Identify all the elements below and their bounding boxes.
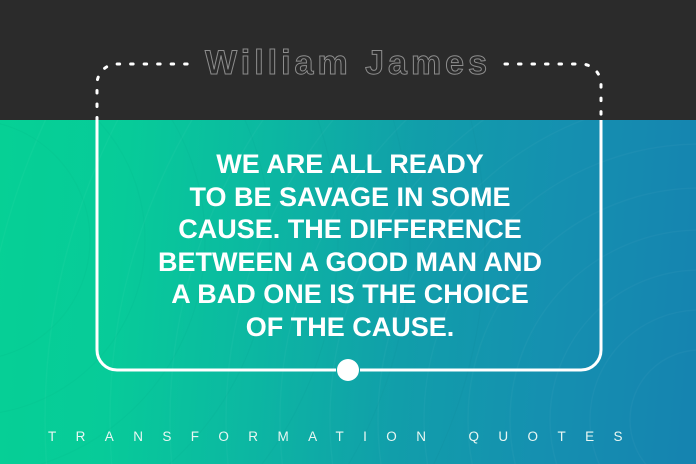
- quote-text: WE ARE ALL READY TO BE SAVAGE IN SOME CA…: [98, 148, 602, 343]
- quote-line: OF THE CAUSE.: [98, 311, 602, 344]
- quote-line: A BAD ONE IS THE CHOICE: [98, 278, 602, 311]
- quote-line: TO BE SAVAGE IN SOME: [98, 181, 602, 214]
- quote-line: BETWEEN A GOOD MAN AND: [98, 246, 602, 279]
- quote-card: William James WE ARE ALL READY TO BE SAV…: [0, 0, 696, 464]
- author-name: William James: [0, 42, 696, 84]
- quote-line: WE ARE ALL READY: [98, 148, 602, 181]
- quote-line: CAUSE. THE DIFFERENCE: [98, 213, 602, 246]
- footer-branding: TRANSFORMATION QUOTES: [48, 428, 668, 446]
